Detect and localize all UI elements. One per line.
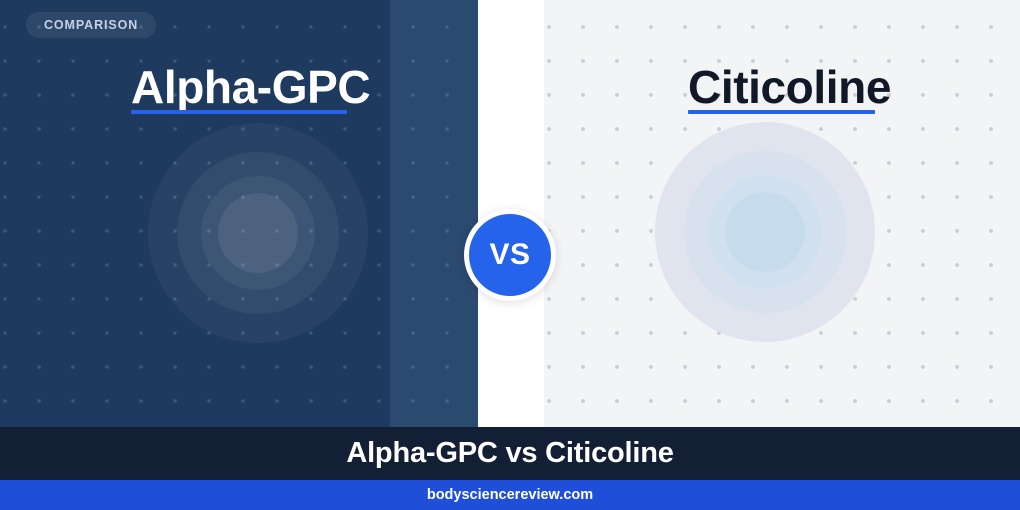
versus-badge-label: VS — [489, 238, 530, 272]
comparison-badge: COMPARISON — [26, 12, 156, 38]
title-bar: Alpha-GPC vs Citicoline — [0, 427, 1020, 480]
right-circle-inner — [725, 192, 805, 272]
footer-bar: bodysciencereview.com — [0, 480, 1020, 510]
title-bar-text: Alpha-GPC vs Citicoline — [346, 437, 673, 470]
right-product-title: Citicoline — [688, 60, 891, 114]
left-panel-accent-strip — [390, 0, 478, 427]
comparison-badge-label: COMPARISON — [44, 18, 138, 32]
comparison-graphic: COMPARISON Alpha-GPC Citicoline VS Alpha… — [0, 0, 1020, 510]
right-title-underline — [688, 110, 875, 114]
left-product-title: Alpha-GPC — [131, 60, 370, 114]
left-circle-inner — [218, 193, 298, 273]
versus-badge: VS — [464, 209, 556, 301]
left-title-underline — [131, 110, 347, 114]
footer-website-url: bodysciencereview.com — [427, 487, 593, 503]
